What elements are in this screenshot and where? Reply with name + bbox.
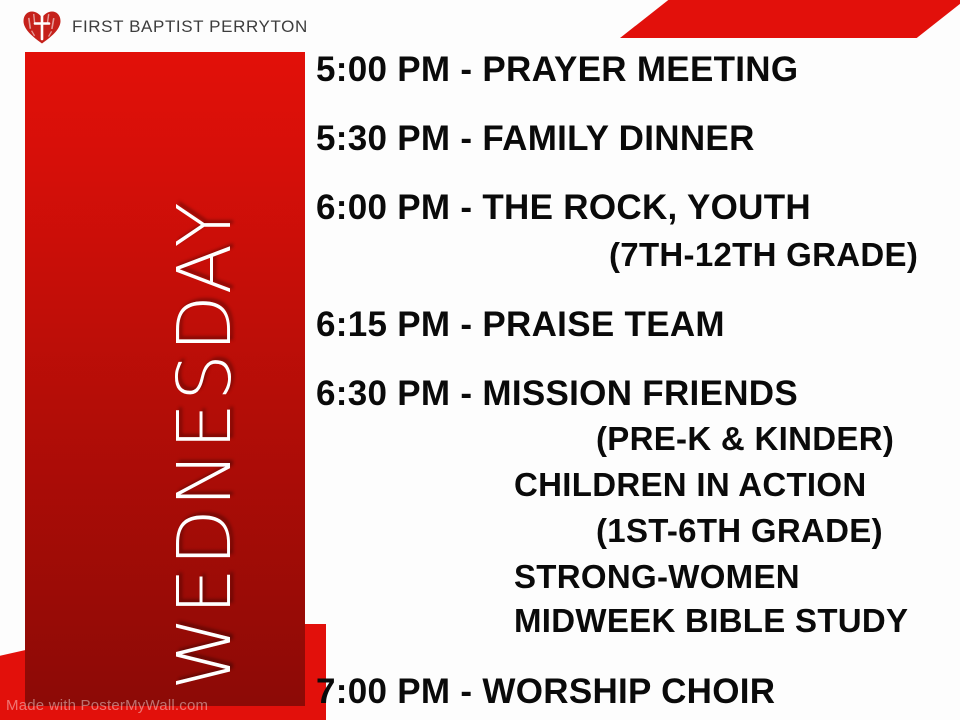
schedule-note-1st-6th-grade: (1ST-6TH GRADE) [596,512,883,550]
poster-canvas: FIRST BAPTIST PERRYTON WEDNESDAY ACTIVTI… [0,0,960,720]
schedule-row-the-rock-youth: 6:00 PM - THE ROCK, YOUTH [316,188,811,228]
schedule-row-family-dinner: 5:30 PM - FAMILY DINNER [316,119,755,159]
schedule-row-praise-team: 6:15 PM - PRAISE TEAM [316,305,725,345]
brand-name: FIRST BAPTIST PERRYTON [72,17,308,37]
schedule-row-midweek-bible-study: MIDWEEK BIBLE STUDY [514,602,908,640]
title-line-wednesday: WEDNESDAY [168,200,242,690]
heart-cross-icon [22,9,62,45]
schedule-row-worship-choir: 7:00 PM - WORSHIP CHOIR [316,672,775,712]
schedule-list: 5:00 PM - PRAYER MEETING 5:30 PM - FAMIL… [314,38,960,720]
schedule-row-children-in-action: CHILDREN IN ACTION [514,466,867,504]
title-line-activities: ACTIVTIES [297,188,305,688]
schedule-row-mission-friends: 6:30 PM - MISSION FRIENDS [316,374,798,414]
schedule-row-strong-women: STRONG-WOMEN [514,558,800,596]
brand-header: FIRST BAPTIST PERRYTON [22,6,308,48]
schedule-note-7th-12th-grade: (7TH-12TH GRADE) [609,236,918,274]
side-title-panel: WEDNESDAY ACTIVTIES [25,52,305,706]
schedule-note-pre-k-kinder: (PRE-K & KINDER) [596,420,894,458]
vertical-title-stack: WEDNESDAY ACTIVTIES [25,52,305,706]
schedule-row-prayer-meeting: 5:00 PM - PRAYER MEETING [316,50,798,90]
top-right-accent-band [620,0,960,38]
